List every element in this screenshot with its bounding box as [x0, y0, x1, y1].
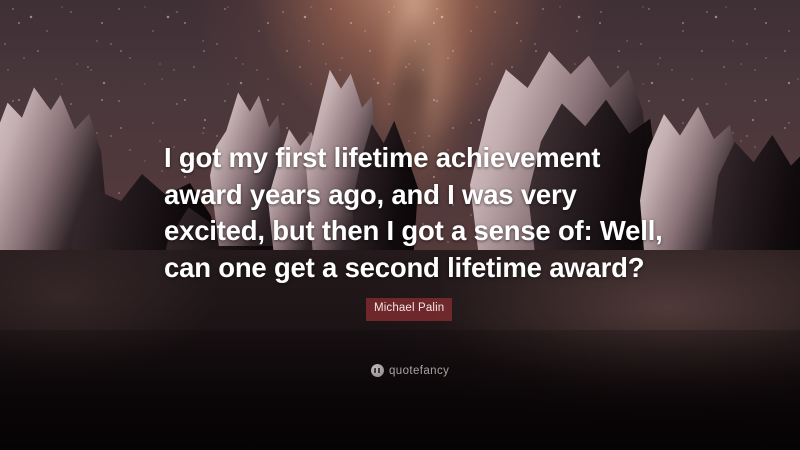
watermark-brand-label: quotefancy — [389, 365, 449, 377]
quote-line-2: award years ago, and I was very — [164, 177, 664, 214]
quote-line-3: excited, but then I got a sense of: Well… — [164, 213, 664, 250]
watermark[interactable]: quotefancy — [371, 364, 449, 377]
quote-line-4: can one get a second lifetime award? — [164, 250, 664, 287]
quote-poster: I got my first lifetime achievement awar… — [0, 0, 800, 450]
author-name: Michael Palin — [366, 298, 452, 321]
foreground-shadow-gradient — [0, 330, 800, 450]
quote-text-block: I got my first lifetime achievement awar… — [164, 140, 664, 286]
quote-line-1: I got my first lifetime achievement — [164, 140, 664, 177]
quotefancy-logo-icon — [371, 364, 384, 377]
author-attribution: Michael Palin — [366, 298, 452, 321]
